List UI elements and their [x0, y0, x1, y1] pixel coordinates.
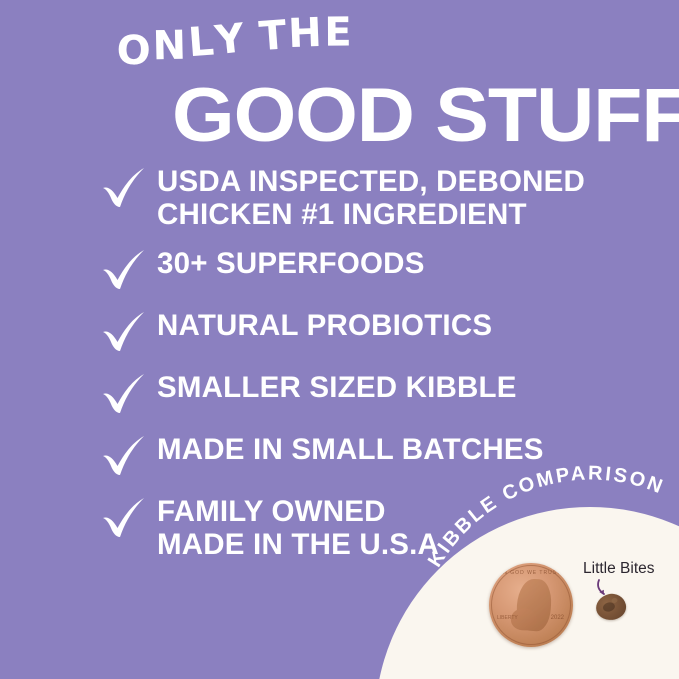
kibble-highlight	[611, 597, 618, 603]
list-item-label: MADE IN SMALL BATCHES	[148, 433, 620, 466]
checkmark-icon	[100, 311, 148, 353]
list-item: NATURAL PROBIOTICS	[100, 309, 620, 353]
benefits-checklist: USDA INSPECTED, DEBONED CHICKEN #1 INGRE…	[100, 165, 620, 577]
list-item: SMALLER SIZED KIBBLE	[100, 371, 620, 415]
list-item: FAMILY OWNED MADE IN THE U.S.A	[100, 495, 620, 561]
list-item-label: USDA INSPECTED, DEBONED CHICKEN #1 INGRE…	[148, 165, 620, 231]
little-bites-label: Little Bites	[583, 560, 655, 578]
kicker-letter: O	[116, 28, 153, 74]
penny-legend-top: IN GOD WE TRUST	[489, 570, 573, 576]
kicker-letter: Y	[213, 15, 249, 64]
page-title: GOOD STUFF:	[172, 72, 679, 159]
list-item-label: FAMILY OWNED MADE IN THE U.S.A	[148, 495, 620, 561]
list-item-label: SMALLER SIZED KIBBLE	[148, 371, 620, 404]
kicker-letter: E	[324, 10, 353, 56]
list-item: 30+ SUPERFOODS	[100, 247, 620, 291]
promo-poster: ONLY THE GOOD STUFF: USDA INSPECTED, DEB…	[0, 0, 679, 679]
penny-legend-left: LIBERTY	[497, 615, 518, 621]
checkmark-icon	[100, 373, 148, 415]
list-item-label: 30+ SUPERFOODS	[148, 247, 620, 280]
list-item: MADE IN SMALL BATCHES	[100, 433, 620, 477]
checkmark-icon	[100, 249, 148, 291]
list-item: USDA INSPECTED, DEBONED CHICKEN #1 INGRE…	[100, 165, 620, 231]
kicker-letter: L	[186, 18, 217, 66]
kicker-letter: H	[288, 10, 325, 57]
headline-kicker: ONLY THE	[115, 13, 354, 72]
checkmark-icon	[100, 435, 148, 477]
checkmark-icon	[100, 497, 148, 539]
kicker-letter: N	[152, 23, 188, 70]
kicker-letter: T	[258, 12, 291, 60]
list-item-label: NATURAL PROBIOTICS	[148, 309, 620, 342]
penny-year: 2022	[551, 615, 564, 621]
penny-coin: IN GOD WE TRUST LIBERTY 2022	[489, 563, 573, 647]
checkmark-icon	[100, 167, 148, 209]
